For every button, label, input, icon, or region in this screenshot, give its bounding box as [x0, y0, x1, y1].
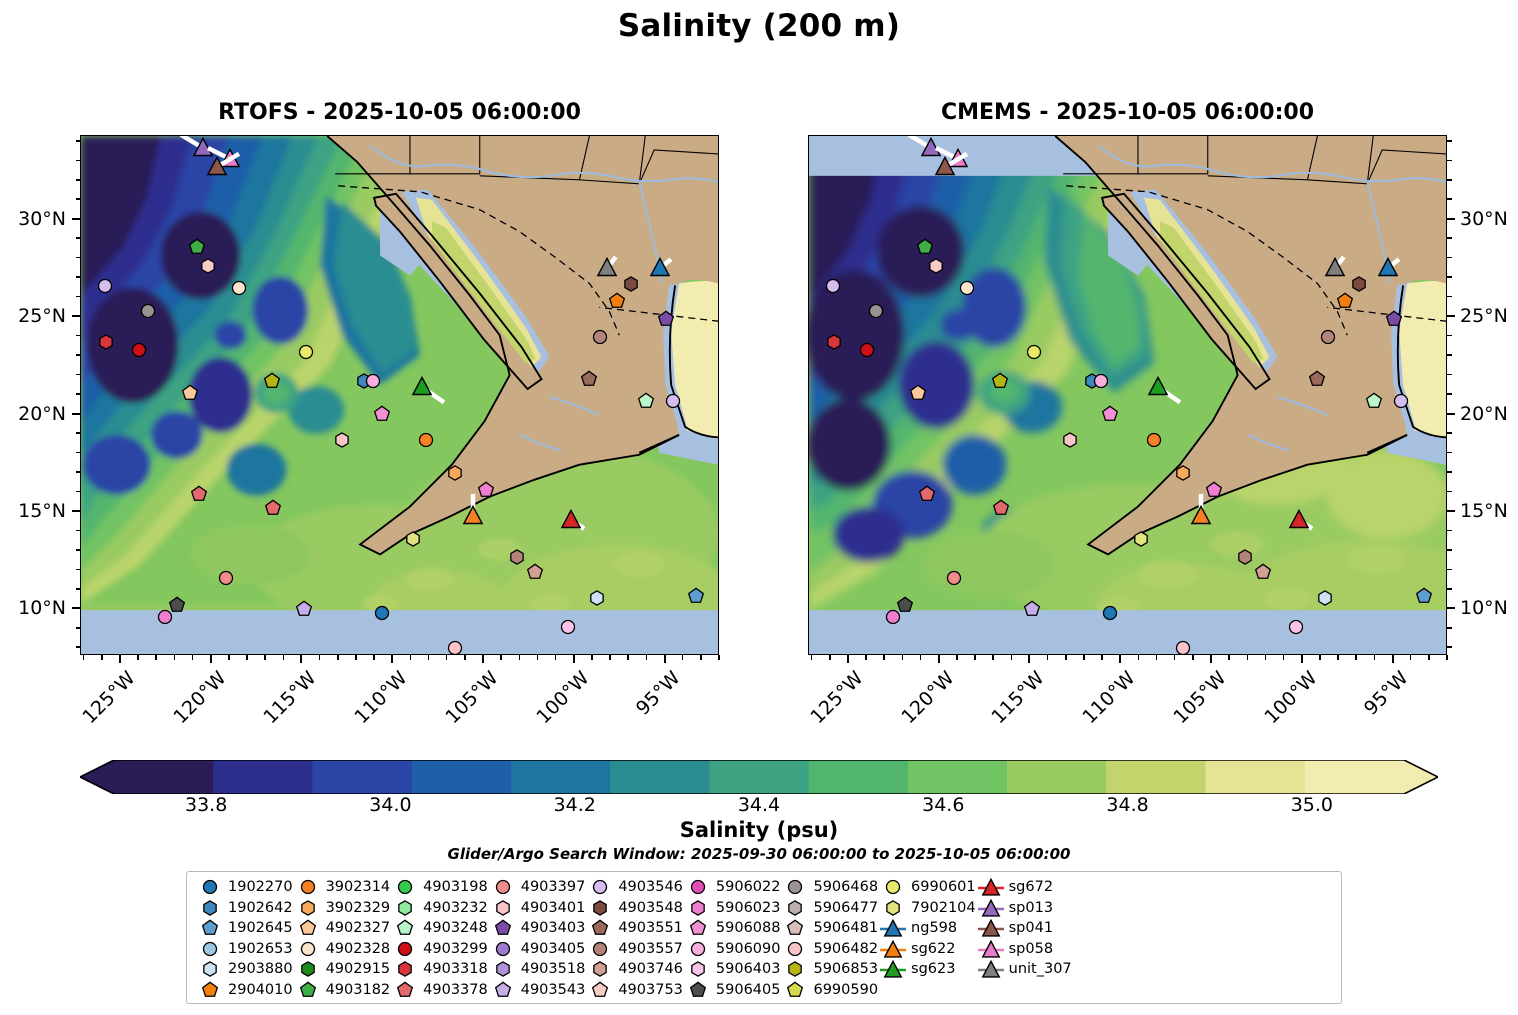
xtick-label-left-3: 110°W	[351, 667, 412, 728]
legend-marker-pentagon-icon	[780, 918, 810, 938]
ytick-minor-right-24	[1447, 335, 1452, 337]
xtick-label-left-2: 115°W	[260, 667, 321, 728]
xtick-label-left-1: 120°W	[169, 667, 230, 728]
ytick-minor-left-26	[76, 296, 81, 298]
legend-column-6: 5906468590647759064815906482590685369905…	[780, 877, 878, 1000]
platform-marker-sg623[interactable]	[1146, 375, 1170, 403]
map-panel-rtofs[interactable]	[80, 135, 719, 655]
legend-marker-hexagon-icon	[585, 898, 615, 918]
xtick-minor-right--123	[883, 655, 885, 660]
platform-marker-2904010[interactable]	[605, 290, 628, 317]
legend-marker-pentagon-icon	[390, 980, 420, 1000]
xtick-minor-left--101	[555, 655, 557, 660]
legend-label: 4903182	[323, 982, 391, 998]
ytick-minor-left-12	[76, 569, 81, 571]
legend-marker-circle-icon	[780, 877, 810, 897]
platform-marker-4903401[interactable]	[331, 428, 354, 455]
legend-column-2: 4903198490323249032484903299490331849033…	[390, 877, 488, 1000]
ytick-minor-left-9	[76, 627, 81, 629]
legend-item-4903401[interactable]: 4903401	[488, 898, 586, 919]
legend-item-4903198[interactable]: 4903198	[390, 877, 488, 898]
platform-marker-4903405[interactable]	[661, 389, 684, 416]
xtick-minor-right--98	[1337, 655, 1339, 660]
legend-marker-triangle-line-icon	[976, 939, 1006, 959]
xtick-minor-right--127	[811, 655, 813, 660]
ytick-minor-left-11	[76, 588, 81, 590]
xtick-major-right-3	[1119, 655, 1121, 663]
ytick-minor-left-17	[76, 471, 81, 473]
legend-item-sg623[interactable]: sg623	[878, 959, 976, 980]
legend-marker-circle-icon	[878, 877, 908, 897]
legend-marker-pentagon-icon	[390, 918, 420, 938]
platform-marker-6990601[interactable]	[1023, 341, 1046, 368]
legend-label: 4903548	[615, 900, 683, 916]
xtick-label-left-5: 100°W	[532, 667, 593, 728]
xtick-minor-right--103	[1247, 655, 1249, 660]
platform-marker-2904010[interactable]	[1333, 290, 1356, 317]
ytick-minor-left-8	[76, 646, 81, 648]
legend-item-4903753[interactable]: 4903753	[585, 980, 683, 1001]
legend-label: 4903198	[420, 879, 488, 895]
legend-marker-hexagon-icon	[780, 898, 810, 918]
panel-title-rtofs: RTOFS - 2025-10-05 06:00:00	[80, 100, 719, 125]
platform-marker-ng598[interactable]	[1376, 256, 1400, 284]
legend-column-5: 5906022590602359060885906090590640359064…	[683, 877, 781, 1000]
legend-label: 4903403	[518, 920, 586, 936]
legend-item-4903546[interactable]: 4903546	[585, 877, 683, 898]
xtick-minor-right--119	[956, 655, 958, 660]
legend-item-sp058[interactable]: sp058	[976, 939, 1072, 960]
xtick-minor-left--94	[682, 655, 684, 660]
legend-item-4903746[interactable]: 4903746	[585, 959, 683, 980]
legend-item-4903543[interactable]: 4903543	[488, 980, 586, 1001]
legend-marker-triangle-line-icon	[976, 959, 1006, 979]
xtick-minor-right--93	[1428, 655, 1430, 660]
platform-marker-3902314[interactable]	[1142, 428, 1165, 455]
ytick-minor-right-19	[1447, 432, 1452, 434]
platform-marker-4903551[interactable]	[1306, 368, 1329, 395]
ytick-minor-right-9	[1447, 627, 1452, 629]
platform-marker-4903299[interactable]	[128, 339, 151, 366]
xtick-minor-right--121	[920, 655, 922, 660]
legend-item-3902314[interactable]: 3902314	[293, 877, 391, 898]
ytick-label-left-4: 10°N	[0, 597, 66, 619]
platform-marker-4903746[interactable]	[1251, 561, 1274, 588]
legend-label: unit_307	[1006, 961, 1072, 977]
legend-item-6990601[interactable]: 6990601	[878, 877, 976, 898]
ytick-minor-left-29	[76, 237, 81, 239]
legend-marker-circle-icon	[293, 939, 323, 959]
xtick-minor-right--111	[1101, 655, 1103, 660]
xtick-minor-left--111	[373, 655, 375, 660]
legend-marker-hexagon-icon	[293, 898, 323, 918]
legend-label: sg672	[1006, 879, 1053, 895]
legend-marker-circle-icon	[585, 877, 615, 897]
colorbar[interactable]	[80, 760, 1438, 794]
legend-item-5906088[interactable]: 5906088	[683, 918, 781, 939]
legend-item-4902915[interactable]: 4902915	[293, 959, 391, 980]
legend-column-1: 3902314390232949023274902328490291549031…	[293, 877, 391, 1000]
legend-marker-triangle-line-icon	[976, 877, 1006, 897]
platform-marker-sg672[interactable]	[1287, 508, 1311, 536]
ytick-major-left-3	[72, 510, 80, 512]
legend-item-4903405[interactable]: 4903405	[488, 939, 586, 960]
ytick-minor-left-13	[76, 549, 81, 551]
platform-marker-5906468[interactable]	[137, 300, 160, 327]
map-canvas-cmems	[809, 136, 1446, 654]
platform-marker-5906853[interactable]	[260, 370, 283, 397]
platform-marker-4903746[interactable]	[523, 561, 546, 588]
platform-marker-3902329[interactable]	[443, 461, 466, 488]
legend-marker-circle-icon	[390, 939, 420, 959]
platform-marker-4903299[interactable]	[856, 339, 879, 366]
xtick-major-left-0	[119, 655, 121, 663]
ytick-major-left-1	[72, 315, 80, 317]
platform-marker-4903543[interactable]	[1021, 598, 1044, 625]
legend-item-4903378[interactable]: 4903378	[390, 980, 488, 1001]
legend-marker-triangle-line-icon	[878, 918, 908, 938]
ytick-minor-left-28	[76, 257, 81, 259]
legend-column-8: sg672 sp013 sp041 sp058 unit_307	[976, 877, 1072, 980]
legend-marker-hexagon-icon	[780, 959, 810, 979]
legend-marker-hexagon-icon	[683, 898, 713, 918]
xtick-major-left-2	[300, 655, 302, 663]
legend-item-1902642[interactable]: 1902642	[195, 898, 293, 919]
platform-marker-5906482[interactable]	[1171, 637, 1194, 655]
platform-marker-4903551[interactable]	[578, 368, 601, 395]
xtick-major-right-0	[847, 655, 849, 663]
legend-item-4903548[interactable]: 4903548	[585, 898, 683, 919]
xtick-minor-left--122	[174, 655, 176, 660]
legend-item-3902329[interactable]: 3902329	[293, 898, 391, 919]
legend-item-sp013[interactable]: sp013	[976, 898, 1072, 919]
platform-marker-sp041[interactable]	[933, 155, 957, 183]
ytick-minor-right-11	[1447, 588, 1452, 590]
platform-marker-4903753[interactable]	[197, 255, 220, 282]
legend-marker-circle-icon	[293, 877, 323, 897]
xtick-minor-left--114	[319, 655, 321, 660]
platform-marker-3902329[interactable]	[1171, 461, 1194, 488]
platform-marker-sg622[interactable]	[1189, 504, 1213, 532]
platform-marker-sg672[interactable]	[559, 508, 583, 536]
legend-label: 4903318	[420, 961, 488, 977]
legend-item-1902270[interactable]: 1902270	[195, 877, 293, 898]
legend-item-5906022[interactable]: 5906022	[683, 877, 781, 898]
xtick-minor-right--97	[1355, 655, 1357, 660]
xtick-major-left-1	[210, 655, 212, 663]
xtick-minor-right--117	[992, 655, 994, 660]
map-canvas-rtofs	[81, 136, 718, 654]
xtick-label-right-4: 105°W	[1169, 667, 1230, 728]
legend-item-4903232[interactable]: 4903232	[390, 898, 488, 919]
legend-label: 2904010	[225, 982, 293, 998]
legend-item-5906477[interactable]: 5906477	[780, 898, 878, 919]
legend-item-4903248[interactable]: 4903248	[390, 918, 488, 939]
ytick-minor-left-34	[76, 140, 81, 142]
legend-item-5906023[interactable]: 5906023	[683, 898, 781, 919]
platform-marker-4903248[interactable]	[634, 389, 657, 416]
ytick-label-right-1: 25°N	[1460, 305, 1508, 327]
xtick-minor-left--127	[83, 655, 85, 660]
xtick-major-left-3	[391, 655, 393, 663]
legend-marker-circle-icon	[585, 939, 615, 959]
figure-title: Salinity (200 m)	[0, 8, 1518, 44]
ytick-minor-left-23	[76, 354, 81, 356]
platform-marker-4902328[interactable]	[227, 276, 250, 303]
platform-marker-5906403[interactable]	[556, 615, 579, 642]
search-window-text: Glider/Argo Search Window: 2025-09-30 06…	[0, 845, 1518, 863]
platform-marker-4903378[interactable]	[915, 483, 938, 510]
platform-marker-4903405[interactable]	[1389, 389, 1412, 416]
colorbar-tick-label-1: 34.0	[369, 794, 411, 816]
legend-item-2903880[interactable]: 2903880	[195, 959, 293, 980]
xtick-minor-left--118	[246, 655, 248, 660]
legend-item-4903403[interactable]: 4903403	[488, 918, 586, 939]
ytick-minor-right-33	[1447, 160, 1452, 162]
platform-marker-4903557b[interactable]	[589, 325, 612, 352]
platform-marker-5906023[interactable]	[153, 605, 176, 632]
platform-marker-4903318[interactable]	[95, 331, 118, 358]
platform-marker-1902270[interactable]	[371, 602, 394, 629]
xtick-minor-left--102	[537, 655, 539, 660]
xtick-major-right-6	[1392, 655, 1394, 663]
legend-label: 5906468	[810, 879, 878, 895]
legend-label: 1902270	[225, 879, 293, 895]
legend-column-0: 1902270190264219026451902653290388029040…	[195, 877, 293, 1000]
xtick-major-right-4	[1210, 655, 1212, 663]
platform-marker-6990601[interactable]	[295, 341, 318, 368]
platform-marker-4903397[interactable]	[990, 496, 1013, 523]
platform-marker-2903880[interactable]	[585, 586, 608, 613]
legend-item-1902645[interactable]: 1902645	[195, 918, 293, 939]
platform-marker-5906482[interactable]	[443, 637, 466, 655]
ytick-minor-left-16	[76, 491, 81, 493]
platform-marker-5906090[interactable]	[1090, 370, 1113, 397]
legend-marker-hexagon-icon	[293, 959, 323, 979]
platform-marker-4903403[interactable]	[654, 308, 677, 335]
platform-marker-1902645[interactable]	[1413, 584, 1436, 611]
legend-label: 4903232	[420, 900, 488, 916]
platform-marker-2903880[interactable]	[1313, 586, 1336, 613]
legend-label: 5906403	[713, 961, 781, 977]
platform-legend[interactable]: 1902270190264219026451902653290388029040…	[186, 871, 1342, 1004]
legend-column-4: 4903546490354849035514903557490374649037…	[585, 877, 683, 1000]
platform-marker-4903557b[interactable]	[1317, 325, 1340, 352]
legend-marker-hexagon-icon	[195, 898, 225, 918]
legend-item-4903518[interactable]: 4903518	[488, 959, 586, 980]
ytick-minor-left-27	[76, 276, 81, 278]
platform-marker-1902645[interactable]	[685, 584, 708, 611]
ytick-minor-left-18	[76, 452, 81, 454]
legend-column-7: 69906017902104 ng598 sg622 sg623	[878, 877, 976, 980]
xtick-minor-left--124	[137, 655, 139, 660]
legend-item-1902653[interactable]: 1902653	[195, 939, 293, 960]
legend-item-5906405[interactable]: 5906405	[683, 980, 781, 1001]
platform-marker-4902328[interactable]	[955, 276, 978, 303]
legend-marker-circle-icon	[195, 939, 225, 959]
legend-marker-circle-icon	[683, 939, 713, 959]
platform-marker-sg623[interactable]	[410, 375, 434, 403]
xtick-label-right-5: 100°W	[1260, 667, 1321, 728]
platform-marker-5906853[interactable]	[988, 370, 1011, 397]
legend-item-sg672[interactable]: sg672	[976, 877, 1072, 898]
platform-marker-4903543[interactable]	[293, 598, 316, 625]
legend-item-4902328[interactable]: 4902328	[293, 939, 391, 960]
platform-marker-4902327[interactable]	[178, 382, 201, 409]
legend-label: 3902329	[323, 900, 391, 916]
xtick-minor-right--126	[829, 655, 831, 660]
xtick-minor-left--112	[355, 655, 357, 660]
legend-label: 7902104	[908, 900, 976, 916]
legend-marker-triangle-line-icon	[976, 918, 1006, 938]
legend-marker-hexagon-icon	[488, 898, 518, 918]
legend-label: 4902328	[323, 941, 391, 957]
xtick-minor-left--97	[627, 655, 629, 660]
legend-label: 5906405	[713, 982, 781, 998]
platform-marker-5906090[interactable]	[362, 370, 385, 397]
platform-marker-5906088[interactable]	[371, 403, 394, 430]
colorbar-gradient	[80, 760, 1438, 794]
ytick-minor-right-27	[1447, 276, 1452, 278]
platform-marker-5906468[interactable]	[865, 300, 888, 327]
panel-title-cmems: CMEMS - 2025-10-05 06:00:00	[808, 100, 1447, 125]
xtick-label-left-6: 95°W	[631, 667, 684, 720]
legend-item-sp041[interactable]: sp041	[976, 918, 1072, 939]
platform-marker-unit_307[interactable]	[595, 256, 619, 284]
legend-marker-pentagon-icon	[585, 980, 615, 1000]
platform-marker-5906023[interactable]	[881, 605, 904, 632]
legend-item-5906482[interactable]: 5906482	[780, 939, 878, 960]
platform-marker-5906403[interactable]	[1284, 615, 1307, 642]
platform-marker-4903397b[interactable]	[943, 567, 966, 594]
platform-marker-4903397b[interactable]	[215, 567, 238, 594]
legend-item-4903551[interactable]: 4903551	[585, 918, 683, 939]
xtick-label-right-0: 125°W	[806, 667, 867, 728]
legend-marker-hexagon-icon	[683, 959, 713, 979]
platform-marker-ng598[interactable]	[648, 256, 672, 284]
xtick-label-left-0: 125°W	[78, 667, 139, 728]
legend-label: 4902327	[323, 920, 391, 936]
legend-marker-hexagon-icon	[390, 959, 420, 979]
legend-label: 5906481	[810, 920, 878, 936]
platform-marker-unit_307[interactable]	[1323, 256, 1347, 284]
legend-item-5906468[interactable]: 5906468	[780, 877, 878, 898]
platform-marker-4903397[interactable]	[262, 496, 285, 523]
platform-marker-4903753[interactable]	[925, 255, 948, 282]
platform-marker-4903401[interactable]	[1059, 428, 1082, 455]
ytick-minor-right-14	[1447, 530, 1452, 532]
legend-item-4903182[interactable]: 4903182	[293, 980, 391, 1001]
ytick-label-right-4: 10°N	[1460, 597, 1508, 619]
xtick-minor-left--121	[192, 655, 194, 660]
legend-item-4903299[interactable]: 4903299	[390, 939, 488, 960]
legend-item-7902104[interactable]: 7902104	[878, 898, 976, 919]
platform-marker-4903403[interactable]	[1382, 308, 1405, 335]
platform-marker-1902270[interactable]	[1099, 602, 1122, 629]
xtick-minor-right--116	[1011, 655, 1013, 660]
ytick-major-right-4	[1447, 607, 1455, 609]
legend-label: 4903543	[518, 982, 586, 998]
xtick-minor-left--119	[228, 655, 230, 660]
legend-item-5906090[interactable]: 5906090	[683, 939, 781, 960]
legend-item-5906853[interactable]: 5906853	[780, 959, 878, 980]
platform-marker-4902327[interactable]	[906, 382, 929, 409]
platform-marker-sp041[interactable]	[205, 155, 229, 183]
legend-label: 4903518	[518, 961, 586, 977]
xtick-minor-left--123	[155, 655, 157, 660]
xtick-label-right-1: 120°W	[897, 667, 958, 728]
legend-item-4903397[interactable]: 4903397	[488, 877, 586, 898]
xtick-minor-left--103	[519, 655, 521, 660]
legend-item-2904010[interactable]: 2904010	[195, 980, 293, 1001]
platform-marker-4903546[interactable]	[93, 274, 116, 301]
legend-marker-pentagon-icon	[488, 918, 518, 938]
platform-marker-7902104[interactable]	[402, 528, 425, 555]
legend-label: 2903880	[225, 961, 293, 977]
legend-item-4903557[interactable]: 4903557	[585, 939, 683, 960]
ytick-label-right-0: 30°N	[1460, 208, 1508, 230]
ytick-major-left-0	[72, 218, 80, 220]
xtick-minor-right--108	[1156, 655, 1158, 660]
legend-marker-pentagon-icon	[683, 980, 713, 1000]
legend-label: 5906853	[810, 961, 878, 977]
xtick-label-right-6: 95°W	[1359, 667, 1412, 720]
ytick-minor-right-8	[1447, 646, 1452, 648]
platform-marker-4903378[interactable]	[187, 483, 210, 510]
platform-marker-4903318[interactable]	[823, 331, 846, 358]
platform-marker-4903248[interactable]	[1362, 389, 1385, 416]
legend-label: 4903248	[420, 920, 488, 936]
platform-marker-3902314[interactable]	[414, 428, 437, 455]
xtick-minor-right--101	[1283, 655, 1285, 660]
ytick-label-left-0: 30°N	[0, 208, 66, 230]
ytick-minor-right-13	[1447, 549, 1452, 551]
ytick-label-left-3: 15°N	[0, 500, 66, 522]
platform-marker-7902104[interactable]	[1130, 528, 1153, 555]
legend-item-5906481[interactable]: 5906481	[780, 918, 878, 939]
legend-item-6990590[interactable]: 6990590	[780, 980, 878, 1001]
legend-label: 5906023	[713, 900, 781, 916]
ytick-minor-right-28	[1447, 257, 1452, 259]
legend-marker-circle-icon	[780, 939, 810, 959]
legend-item-sg622[interactable]: sg622	[878, 939, 976, 960]
xtick-major-right-1	[938, 655, 940, 663]
legend-label: 4903401	[518, 900, 586, 916]
legend-marker-pentagon-icon	[293, 980, 323, 1000]
legend-item-5906403[interactable]: 5906403	[683, 959, 781, 980]
legend-label: 4902915	[323, 961, 391, 977]
xtick-minor-left--98	[609, 655, 611, 660]
xtick-label-right-2: 115°W	[988, 667, 1049, 728]
legend-label: 4903546	[615, 879, 683, 895]
map-panel-cmems[interactable]	[808, 135, 1447, 655]
platform-marker-4903546[interactable]	[821, 274, 844, 301]
ytick-minor-left-21	[76, 393, 81, 395]
platform-marker-5906088[interactable]	[1099, 403, 1122, 430]
xtick-minor-right--112	[1083, 655, 1085, 660]
legend-item-4903318[interactable]: 4903318	[390, 959, 488, 980]
legend-label: 6990590	[810, 982, 878, 998]
legend-item-4902327[interactable]: 4902327	[293, 918, 391, 939]
legend-item-unit_307[interactable]: unit_307	[976, 959, 1072, 980]
ytick-minor-right-22	[1447, 374, 1452, 376]
platform-marker-sg622[interactable]	[461, 504, 485, 532]
legend-marker-triangle-line-icon	[976, 898, 1006, 918]
legend-label: 4903299	[420, 941, 488, 957]
xtick-minor-right--96	[1374, 655, 1376, 660]
xtick-minor-right--106	[1192, 655, 1194, 660]
legend-item-ng598[interactable]: ng598	[878, 918, 976, 939]
